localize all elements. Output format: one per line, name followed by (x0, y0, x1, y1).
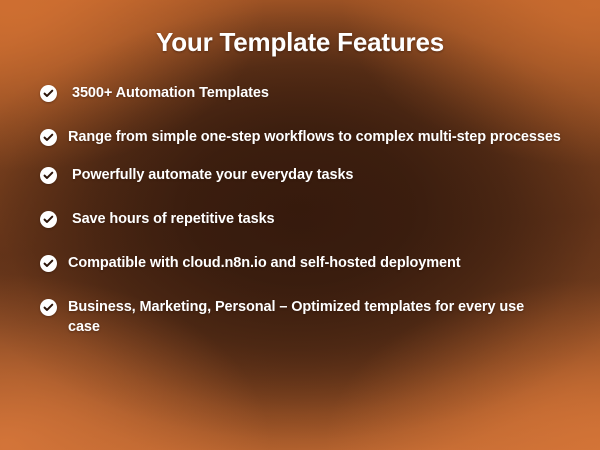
check-circle-icon (40, 299, 57, 316)
slide-content: Your Template Features 3500+ Automation … (0, 0, 600, 450)
check-circle-icon (40, 85, 57, 102)
feature-label: Business, Marketing, Personal – Optimize… (68, 298, 538, 337)
feature-label: Compatible with cloud.n8n.io and self-ho… (68, 254, 460, 274)
feature-slide: Your Template Features 3500+ Automation … (0, 0, 600, 450)
list-item: Compatible with cloud.n8n.io and self-ho… (40, 254, 568, 276)
page-title: Your Template Features (0, 27, 600, 58)
feature-label: Range from simple one-step workflows to … (68, 128, 561, 148)
check-circle-icon (40, 167, 57, 184)
list-item: Business, Marketing, Personal – Optimize… (40, 298, 568, 337)
list-item: Powerfully automate your everyday tasks (40, 166, 568, 188)
feature-label: Save hours of repetitive tasks (72, 210, 275, 230)
check-circle-icon (40, 211, 57, 228)
feature-label: Powerfully automate your everyday tasks (72, 166, 353, 186)
feature-label: 3500+ Automation Templates (72, 84, 269, 104)
list-item: Range from simple one-step workflows to … (40, 128, 568, 150)
list-item: Save hours of repetitive tasks (40, 210, 568, 232)
feature-list: 3500+ Automation Templates Range from si… (40, 84, 568, 353)
list-item: 3500+ Automation Templates (40, 84, 568, 106)
check-circle-icon (40, 129, 57, 146)
check-circle-icon (40, 255, 57, 272)
